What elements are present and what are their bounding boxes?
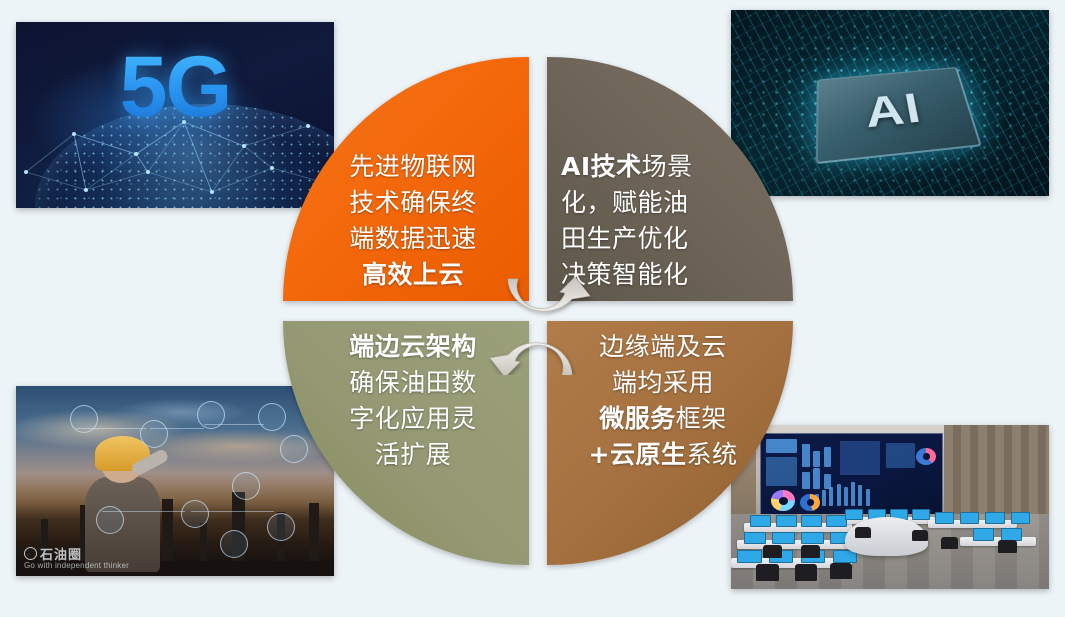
photo-watermark: 石油圈 Go with independent thinker [24,547,129,570]
quad-line: 系统 [686,440,737,469]
cycle-wheel-diagram: 先进物联网 技术确保终 端数据迅速 高效上云 AI技术场景 化，赋能油 田生产优… [283,57,793,565]
quad-line-bold: +云原生 [589,440,687,469]
quad-line-bold: 高效上云 [362,260,464,289]
wheel-quadrant-edge-cloud-arch[interactable]: 端边云架构 确保油田数 字化应用灵 活扩展 [283,321,529,565]
slide-canvas: 5G AI [0,0,1065,617]
quad-line: 端数据迅速 [311,221,515,257]
quad-line: 活扩展 [311,437,515,473]
wheel-quadrant-ai-scenario-text: AI技术场景 化，赋能油 田生产优化 决策智能化 [547,149,793,293]
quad-line-bold: AI技术 [561,152,642,181]
quad-line-bold: 微服务 [599,404,676,433]
quad-line: 字化应用灵 [311,401,515,437]
wheel-quadrant-edge-cloud-arch-text: 端边云架构 确保油田数 字化应用灵 活扩展 [283,329,529,473]
quad-line: 场景 [642,152,693,181]
quad-line: 边缘端及云 [561,329,765,365]
wheel-quadrant-iot-cloud-text: 先进物联网 技术确保终 端数据迅速 高效上云 [283,149,529,293]
wheel-quadrant-microservice-cloudnative-text: 边缘端及云 端均采用 微服务框架 +云原生系统 [547,329,793,473]
quad-line: 化，赋能油 [561,185,765,221]
watermark-cn-text: 石油圈 [40,547,82,562]
photo-ai-caption: AI [818,69,980,162]
wheel-quadrant-ai-scenario[interactable]: AI技术场景 化，赋能油 田生产优化 决策智能化 [547,57,793,301]
watermark-logo-icon [24,547,37,560]
quad-line: 确保油田数 [311,365,515,401]
wheel-quadrant-iot-cloud[interactable]: 先进物联网 技术确保终 端数据迅速 高效上云 [283,57,529,301]
quad-line: 田生产优化 [561,221,765,257]
quad-line: 技术确保终 [311,185,515,221]
watermark-en-text: Go with independent thinker [24,562,129,570]
wheel-quadrant-microservice-cloudnative[interactable]: 边缘端及云 端均采用 微服务框架 +云原生系统 [547,321,793,565]
quad-line: 端均采用 [561,365,765,401]
quad-line: 先进物联网 [311,149,515,185]
quad-line-bold: 端边云架构 [349,332,477,361]
quad-line: 框架 [676,404,727,433]
quad-line: 决策智能化 [561,257,765,293]
